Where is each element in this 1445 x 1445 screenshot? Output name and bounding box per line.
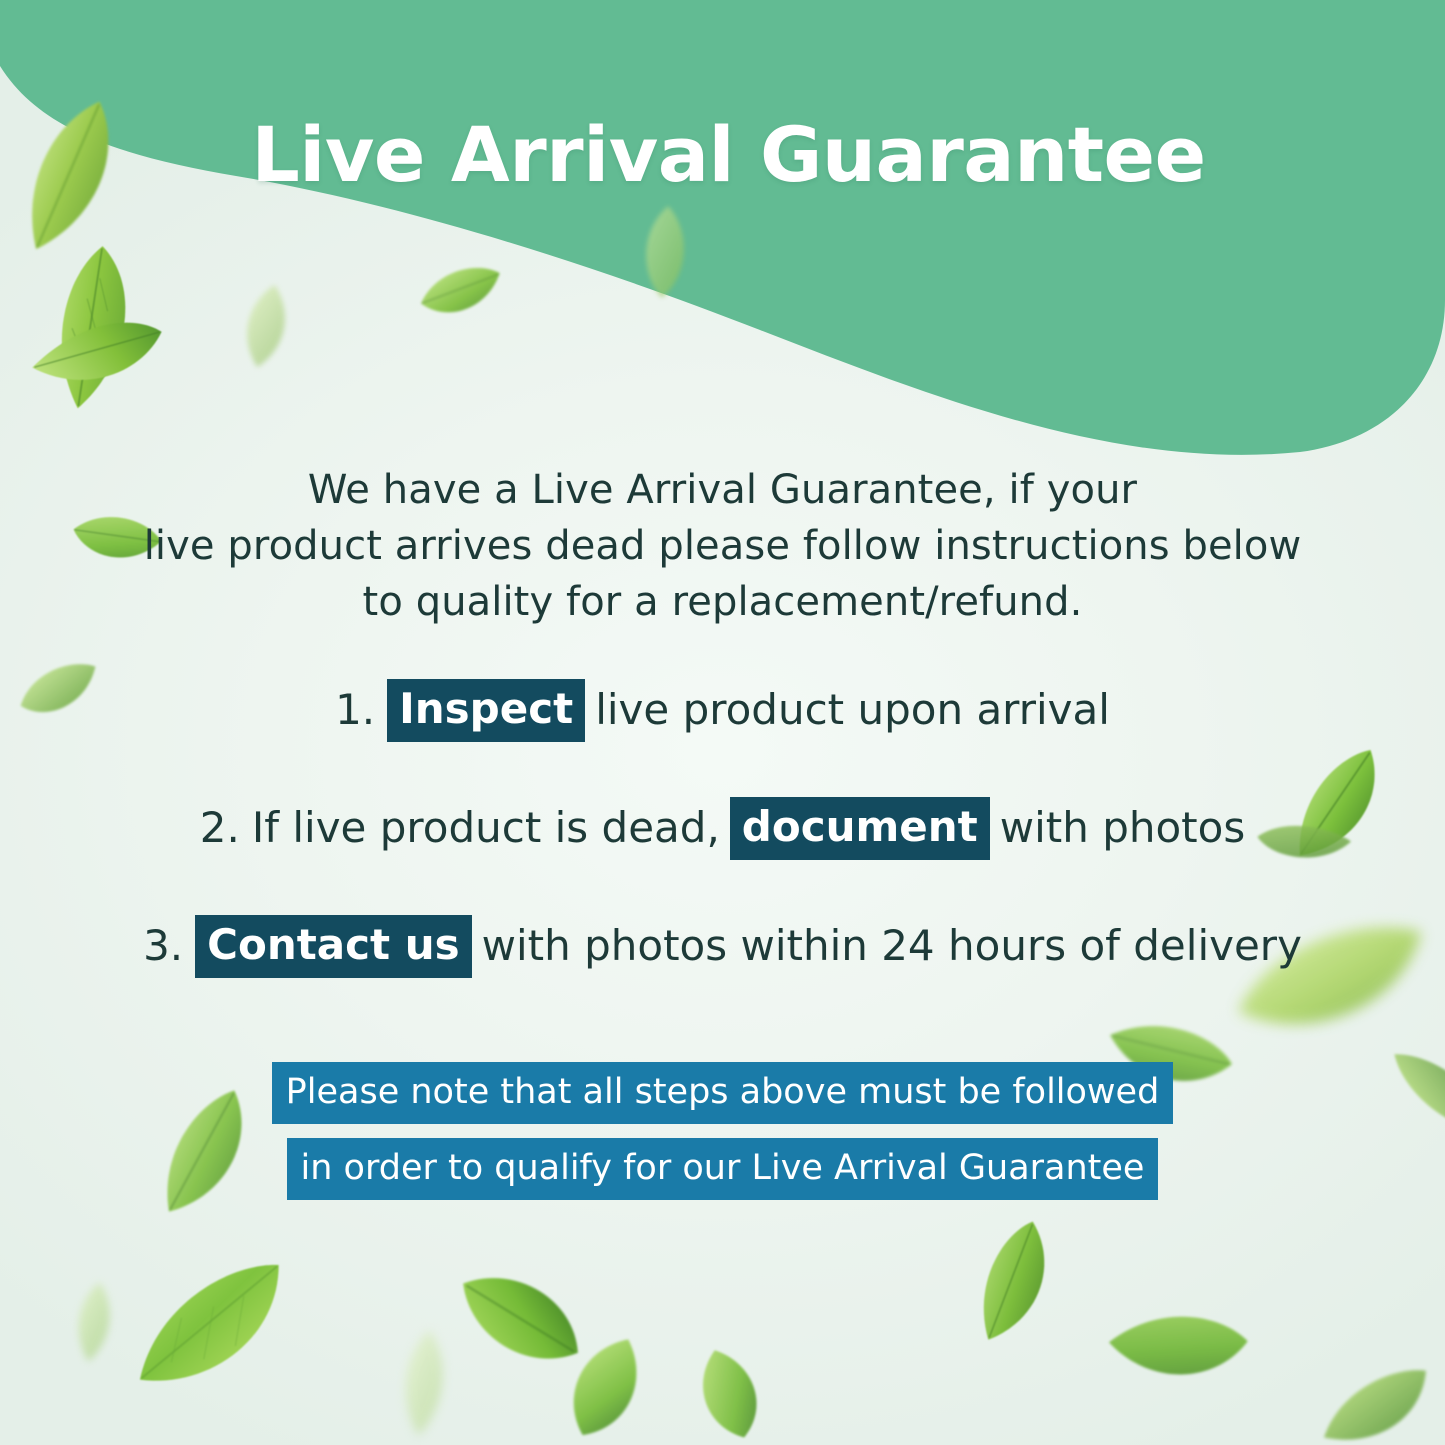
step-item-1: 1.Inspectlive product upon arrival bbox=[0, 672, 1445, 748]
step-number: 1. bbox=[335, 685, 375, 734]
intro-line-2: live product arrives dead please follow … bbox=[0, 518, 1445, 574]
intro-line-3: to quality for a replacement/refund. bbox=[0, 574, 1445, 630]
note-line-2: in order to qualify for our Live Arrival… bbox=[287, 1138, 1159, 1200]
step-item-3: 3.Contact uswith photos within 24 hours … bbox=[0, 908, 1445, 984]
live-arrival-guarantee-poster: Live Arrival Guarantee We have a Live Ar… bbox=[0, 0, 1445, 1445]
intro-line-1: We have a Live Arrival Guarantee, if you… bbox=[0, 462, 1445, 518]
note-banner: Please note that all steps above must be… bbox=[0, 1062, 1445, 1200]
step-highlight-inspect: Inspect bbox=[387, 679, 585, 742]
step-text: live product upon arrival bbox=[595, 685, 1110, 734]
step-item-2: 2.If live product is dead,documentwith p… bbox=[0, 790, 1445, 866]
step-highlight-document: document bbox=[730, 797, 990, 860]
intro-paragraph: We have a Live Arrival Guarantee, if you… bbox=[0, 462, 1445, 630]
step-text: with photos bbox=[1000, 803, 1245, 852]
step-number: 3. bbox=[143, 921, 183, 970]
steps-list: 1.Inspectlive product upon arrival 2.If … bbox=[0, 672, 1445, 1026]
step-text: with photos within 24 hours of delivery bbox=[482, 921, 1302, 970]
note-line-1: Please note that all steps above must be… bbox=[272, 1062, 1174, 1124]
step-lead-text: If live product is dead, bbox=[252, 803, 720, 852]
step-number: 2. bbox=[200, 803, 240, 852]
step-highlight-contact-us: Contact us bbox=[195, 915, 472, 978]
content-area: We have a Live Arrival Guarantee, if you… bbox=[0, 0, 1445, 1445]
